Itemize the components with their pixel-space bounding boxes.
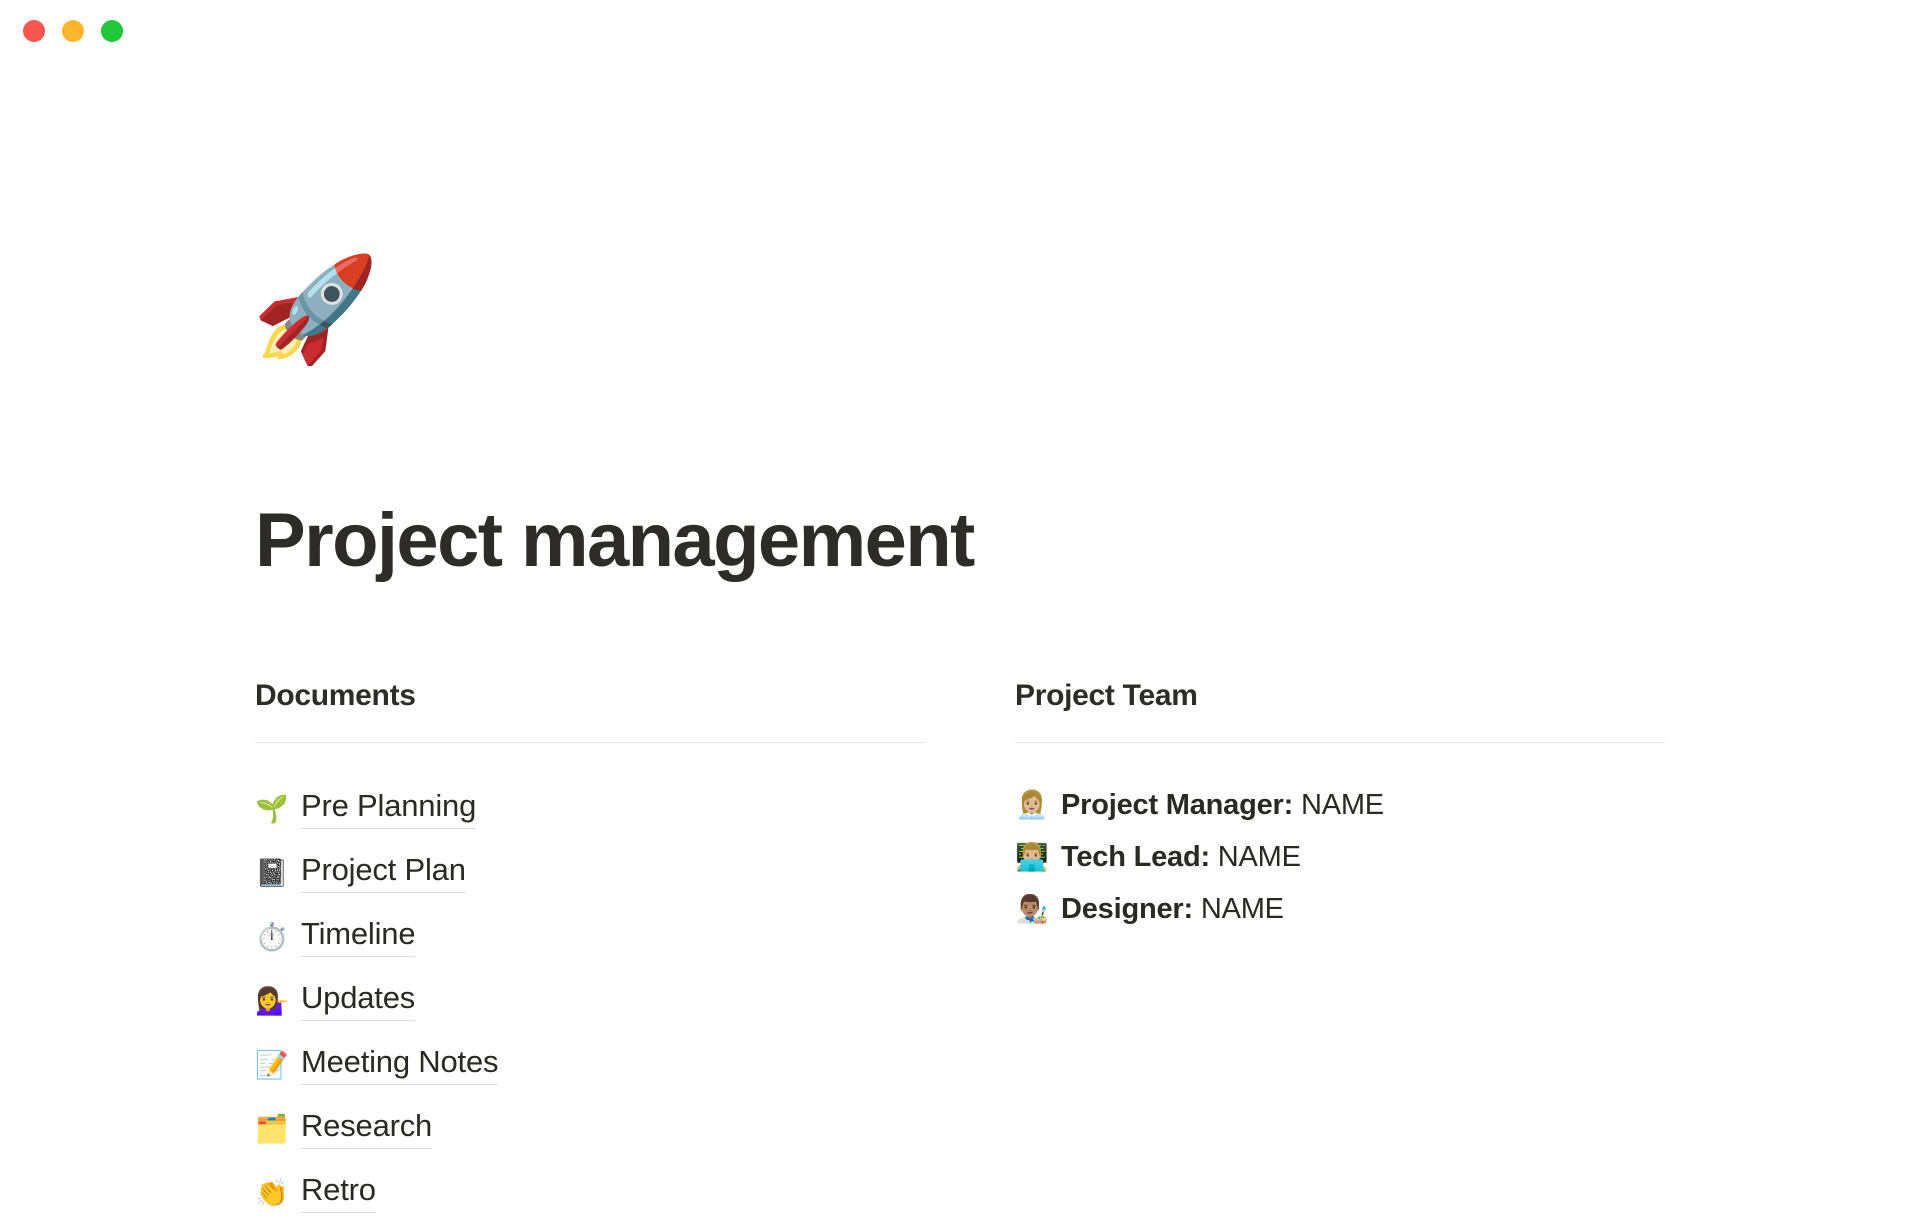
page-title: Project management: [255, 500, 974, 582]
team-member-name: NAME: [1201, 893, 1284, 925]
team-member-name: NAME: [1301, 789, 1384, 821]
person-tipping-hand-icon: 💁‍♀️: [255, 988, 301, 1015]
list-item[interactable]: 📝 Meeting Notes: [255, 1033, 925, 1097]
list-item[interactable]: 📓 Project Plan: [255, 841, 925, 905]
project-team-list: 👩🏼‍💼 Project Manager: NAME 👨🏼‍💻 Tech Lea…: [1015, 779, 1665, 935]
team-role-label: Project Manager:: [1061, 789, 1293, 821]
document-link-meeting-notes[interactable]: Meeting Notes: [301, 1045, 498, 1084]
team-member-designer: Designer: NAME: [1061, 892, 1284, 927]
document-link-research[interactable]: Research: [301, 1109, 432, 1148]
card-index-dividers-icon: 🗂️: [255, 1116, 301, 1143]
clapping-hands-icon: 👏: [255, 1180, 301, 1207]
document-link-updates[interactable]: Updates: [301, 981, 415, 1020]
list-item: 👨🏽‍🎨 Designer: NAME: [1015, 883, 1665, 935]
team-role-label: Designer:: [1061, 893, 1193, 925]
list-item[interactable]: ⏱️ Timeline: [255, 905, 925, 969]
man-technologist-icon: 👨🏼‍💻: [1015, 844, 1061, 871]
list-item[interactable]: 💁‍♀️ Updates: [255, 969, 925, 1033]
list-item: 👩🏼‍💼 Project Manager: NAME: [1015, 779, 1665, 831]
documents-heading: Documents: [255, 678, 925, 714]
list-item[interactable]: 👏 Retro: [255, 1161, 925, 1225]
document-link-timeline[interactable]: Timeline: [301, 917, 415, 956]
documents-list: 🌱 Pre Planning 📓 Project Plan ⏱️ Timelin…: [255, 777, 925, 1225]
seedling-icon: 🌱: [255, 796, 301, 823]
team-member-name: NAME: [1218, 841, 1301, 873]
project-team-heading: Project Team: [1015, 678, 1665, 714]
documents-divider: [255, 742, 925, 743]
documents-section: Documents 🌱 Pre Planning 📓 Project Plan …: [255, 678, 925, 1225]
stopwatch-icon: ⏱️: [255, 924, 301, 951]
notebook-icon: 📓: [255, 860, 301, 887]
team-member-project-manager: Project Manager: NAME: [1061, 788, 1384, 823]
document-link-retro[interactable]: Retro: [301, 1173, 376, 1212]
rocket-icon: 🚀: [252, 258, 379, 360]
man-artist-icon: 👨🏽‍🎨: [1015, 896, 1061, 923]
project-team-divider: [1015, 742, 1665, 743]
list-item[interactable]: 🗂️ Research: [255, 1097, 925, 1161]
document-link-project-plan[interactable]: Project Plan: [301, 853, 466, 892]
document-link-pre-planning[interactable]: Pre Planning: [301, 789, 476, 828]
list-item[interactable]: 🌱 Pre Planning: [255, 777, 925, 841]
document-page: 🚀 Project management Documents 🌱 Pre Pla…: [0, 0, 1920, 1200]
team-role-label: Tech Lead:: [1061, 841, 1210, 873]
memo-icon: 📝: [255, 1052, 301, 1079]
woman-office-worker-icon: 👩🏼‍💼: [1015, 792, 1061, 819]
team-member-tech-lead: Tech Lead: NAME: [1061, 840, 1301, 875]
project-team-section: Project Team 👩🏼‍💼 Project Manager: NAME …: [1015, 678, 1665, 935]
list-item: 👨🏼‍💻 Tech Lead: NAME: [1015, 831, 1665, 883]
